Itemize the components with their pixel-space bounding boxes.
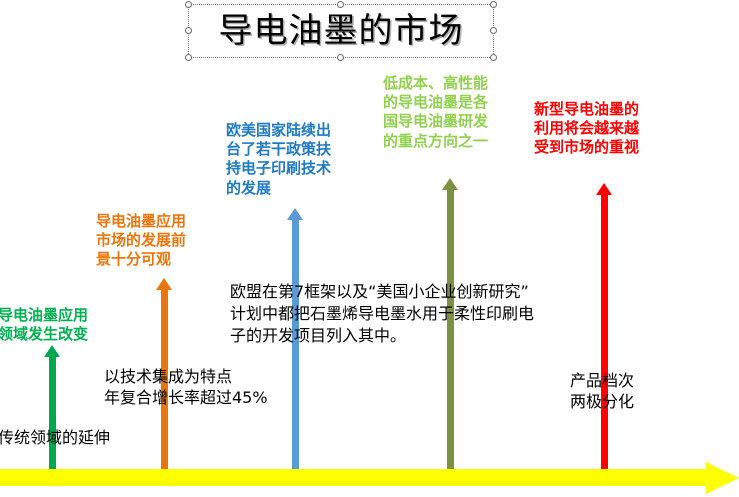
title-textbox[interactable]: 导电油墨的市场 <box>188 4 494 58</box>
callout-blue: 欧美国家陆续出 台了若干政策扶 持电子印刷技术 的发展 <box>226 121 376 198</box>
callout-green: 导电油墨应用 领域发生改变 <box>0 306 133 344</box>
resize-handle-bottom-center[interactable] <box>337 54 344 61</box>
page-title: 导电油墨的市场 <box>189 5 493 57</box>
timeline-arrow <box>0 462 739 494</box>
callout-orange: 导电油墨应用 市场的发展前 景十分可观 <box>96 212 226 270</box>
presentation-slide: 导电油墨的市场 导电油墨应用 领域发生改变 导电油墨应用 市场的发展前 景十分可… <box>0 0 739 497</box>
resize-handle-top-center[interactable] <box>337 1 344 8</box>
resize-handle-bottom-left[interactable] <box>185 54 192 61</box>
callout-olive: 低成本、高性能 的导电油墨是各 国导电油墨研发 的重点方向之一 <box>383 74 533 151</box>
note-traditional-extension: 传统领域的延伸 <box>0 427 198 448</box>
arrow-shaft <box>49 356 56 476</box>
arrow-shaft <box>292 219 299 476</box>
timeline-arrowhead-icon <box>706 462 739 494</box>
callout-red: 新型导电油墨的 利用将会越来越 受到市场的重视 <box>534 100 689 158</box>
main-paragraph: 欧盟在第7框架以及“美国小企业创新研究” 计划中都把石墨烯导电墨水用于柔性印刷电… <box>230 281 650 347</box>
resize-handle-middle-right[interactable] <box>490 27 497 34</box>
resize-handle-top-left[interactable] <box>185 1 192 8</box>
note-tech-integration: 以技术集成为特点 年复合增长率超过45% <box>104 366 334 408</box>
resize-handle-middle-left[interactable] <box>185 27 192 34</box>
timeline-bar <box>0 469 706 486</box>
resize-handle-top-right[interactable] <box>490 1 497 8</box>
note-product-tiering: 产品档次 两极分化 <box>570 370 730 412</box>
resize-handle-bottom-right[interactable] <box>490 54 497 61</box>
